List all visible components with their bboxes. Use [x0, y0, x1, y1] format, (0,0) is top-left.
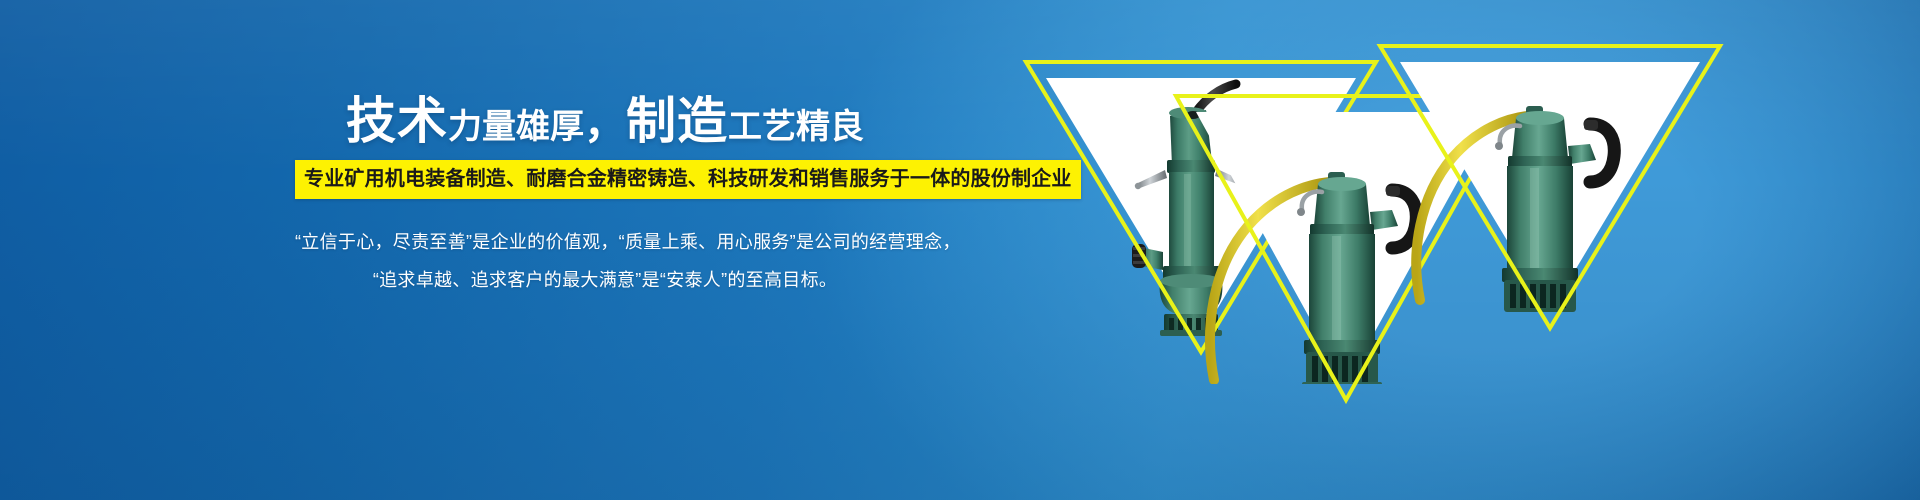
triangle-right [1380, 46, 1720, 328]
headline-comma: ， [584, 103, 626, 145]
page-title: 技术 力量雄厚 ， 制造 工艺精良 [295, 96, 915, 146]
description-line-1: “立信于心，尽责至善”是企业的价值观，“质量上乘、用心服务”是公司的经营理念， [295, 223, 915, 261]
promo-banner: 技术 力量雄厚 ， 制造 工艺精良 专业矿用机电装备制造、耐磨合金精密铸造、科技… [0, 0, 1920, 500]
banner-text-block: 技术 力量雄厚 ， 制造 工艺精良 专业矿用机电装备制造、耐磨合金精密铸造、科技… [295, 96, 915, 299]
headline-segment-2: 力量雄厚 [448, 110, 584, 144]
banner-description: “立信于心，尽责至善”是企业的价值观，“质量上乘、用心服务”是公司的经营理念， … [295, 223, 915, 299]
description-line-2: “追求卓越、追求客户的最大满意”是“安泰人”的至高目标。 [295, 261, 915, 299]
headline-segment-4: 工艺精良 [728, 110, 864, 144]
headline-segment-3: 制造 [626, 96, 728, 146]
highlight-bar: 专业矿用机电装备制造、耐磨合金精密铸造、科技研发和销售服务于一体的股份制企业 [295, 160, 1081, 199]
product-showcase-graphic [1000, 0, 1920, 500]
headline-segment-1: 技术 [346, 96, 448, 146]
